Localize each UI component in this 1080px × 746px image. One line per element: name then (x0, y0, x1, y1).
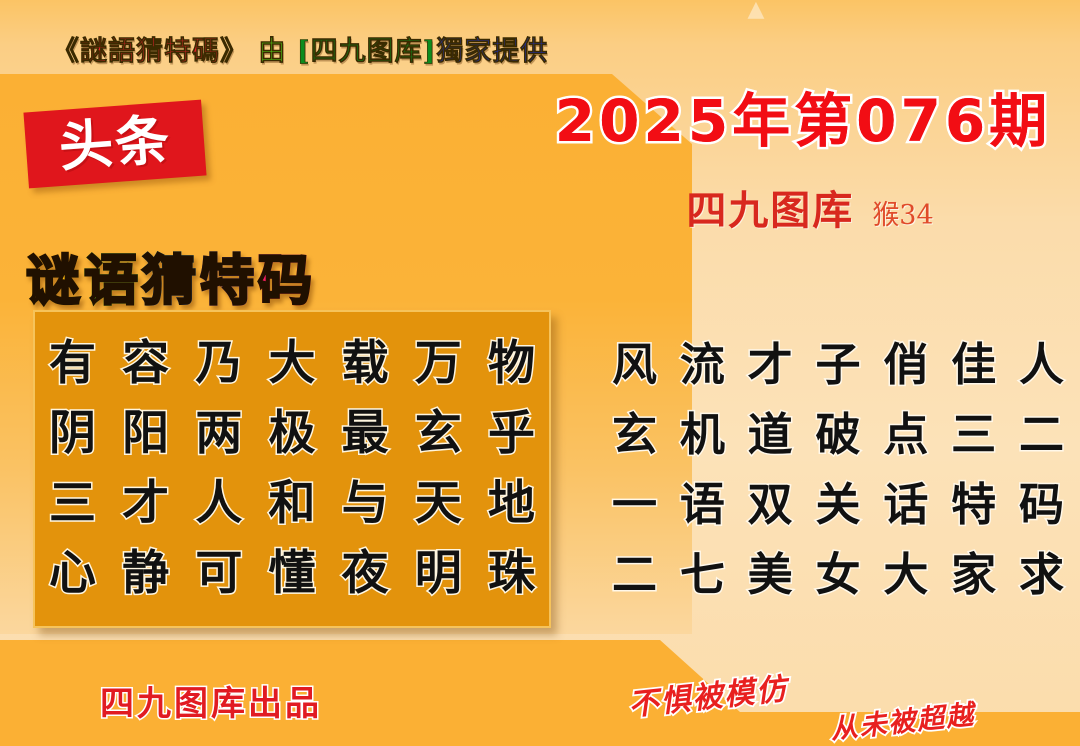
couplet-char: 道 (748, 398, 793, 463)
riddle-char: 极 (268, 410, 315, 457)
rainbow-title: 谜语猜特码 (26, 236, 316, 315)
riddle-char: 和 (268, 480, 315, 527)
couplet-char: 人 (1019, 328, 1064, 393)
riddle-char: 最 (342, 410, 389, 457)
riddle-char: 人 (195, 480, 242, 527)
couplet-char: 机 (680, 398, 725, 463)
couplet-char: 俏 (883, 328, 928, 393)
couplet-char: 三 (951, 398, 996, 463)
footer-brand-line: 四九图库出品 (100, 676, 322, 725)
riddle-char: 物 (488, 340, 535, 387)
couplet-char: 风 (612, 328, 657, 393)
header-part-close-bracket: 》 (220, 36, 248, 67)
riddle-char: 玄 (415, 410, 462, 457)
riddle-char: 心 (49, 550, 96, 597)
riddle-box: 有容乃大载万物阴阳两极最玄乎三才人和与天地心静可懂夜明珠 (33, 310, 551, 628)
couplet-char: 佳 (951, 328, 996, 393)
couplet-line: 风流才子俏佳人 (612, 325, 1064, 395)
riddle-char: 容 (122, 340, 169, 387)
couplet-line: 玄机道破点三二 (612, 395, 1064, 465)
header-part-title: 謎語猜特碼 (80, 36, 220, 67)
riddle-line: 心静可懂夜明珠 (49, 538, 535, 608)
riddle-line: 三才人和与天地 (49, 468, 535, 538)
couplet-char: 码 (1019, 468, 1064, 533)
watermark-icon: ▲ (735, 0, 775, 24)
riddle-char: 懂 (268, 550, 315, 597)
riddle-char: 乎 (488, 410, 535, 457)
couplet-line: 一语双关话特码 (612, 465, 1064, 535)
header-part-by: 由 (248, 36, 297, 67)
header-part-source: 四九图库 (311, 36, 423, 67)
header-part-exclusive: 獨家提供 (436, 36, 548, 67)
rainbow-title-char-2: 语 (84, 236, 142, 315)
header-credit-line: 《謎語猜特碼》 由 [四九图库]獨家提供 (52, 29, 548, 68)
slogan-not-afraid: 不惧被模仿 (626, 664, 790, 724)
couplet-char: 一 (612, 468, 657, 533)
riddle-char: 两 (195, 410, 242, 457)
riddle-char: 阴 (49, 410, 96, 457)
brand-name: 四九图库 (686, 178, 854, 236)
rainbow-title-char-4: 特 (200, 236, 258, 315)
couplet-char: 玄 (612, 398, 657, 463)
couplet-char: 点 (883, 398, 928, 463)
riddle-char: 静 (122, 550, 169, 597)
riddle-line: 阴阳两极最玄乎 (49, 398, 535, 468)
issue-title: 2025年第076期 (548, 74, 1058, 158)
poster-canvas: ▲ 《謎語猜特碼》 由 [四九图库]獨家提供 头条 2025年第076期 202… (0, 0, 1080, 746)
couplet-block: 风流才子俏佳人玄机道破点三二一语双关话特码二七美女大家求 (612, 325, 1064, 605)
couplet-char: 二 (612, 538, 657, 603)
riddle-char: 大 (268, 340, 315, 387)
riddle-char: 阳 (122, 410, 169, 457)
zodiac-tag: 猴34 (872, 193, 933, 232)
couplet-line: 二七美女大家求 (612, 535, 1064, 605)
couplet-char: 美 (748, 538, 793, 603)
headline-badge-label: 头条 (57, 113, 173, 175)
rainbow-title-char-5: 码 (258, 236, 316, 315)
riddle-char: 才 (122, 480, 169, 527)
riddle-char: 三 (49, 480, 96, 527)
rainbow-title-char-3: 猜 (142, 236, 200, 315)
riddle-char: 乃 (195, 340, 242, 387)
couplet-char: 求 (1019, 538, 1064, 603)
header-part-open-bracket: 《 (52, 36, 80, 67)
riddle-char: 万 (415, 340, 462, 387)
riddle-char: 与 (342, 480, 389, 527)
riddle-char: 明 (415, 550, 462, 597)
slogan-never-surpassed: 从未被超越 (828, 693, 976, 746)
headline-badge[interactable]: 头条 (23, 100, 206, 189)
riddle-char: 可 (195, 550, 242, 597)
riddle-char: 夜 (342, 550, 389, 597)
couplet-char: 家 (951, 538, 996, 603)
couplet-char: 语 (680, 468, 725, 533)
header-part-rsquare: ] (423, 36, 437, 67)
riddle-char: 载 (342, 340, 389, 387)
riddle-char: 天 (415, 480, 462, 527)
rainbow-title-char-1: 谜 (26, 236, 84, 315)
riddle-char: 有 (49, 340, 96, 387)
couplet-char: 特 (951, 468, 996, 533)
couplet-char: 双 (748, 468, 793, 533)
couplet-char: 流 (680, 328, 725, 393)
couplet-char: 大 (883, 538, 928, 603)
couplet-char: 七 (680, 538, 725, 603)
couplet-char: 破 (815, 398, 860, 463)
couplet-char: 话 (883, 468, 928, 533)
couplet-char: 女 (815, 538, 860, 603)
brand-row: 四九图库 猴34 (560, 178, 1060, 236)
riddle-char: 地 (488, 480, 535, 527)
couplet-char: 关 (815, 468, 860, 533)
riddle-line: 有容乃大载万物 (49, 328, 535, 398)
couplet-char: 子 (815, 328, 860, 393)
couplet-char: 才 (748, 328, 793, 393)
couplet-char: 二 (1019, 398, 1064, 463)
header-part-lsquare: [ (297, 36, 311, 67)
riddle-char: 珠 (488, 550, 535, 597)
